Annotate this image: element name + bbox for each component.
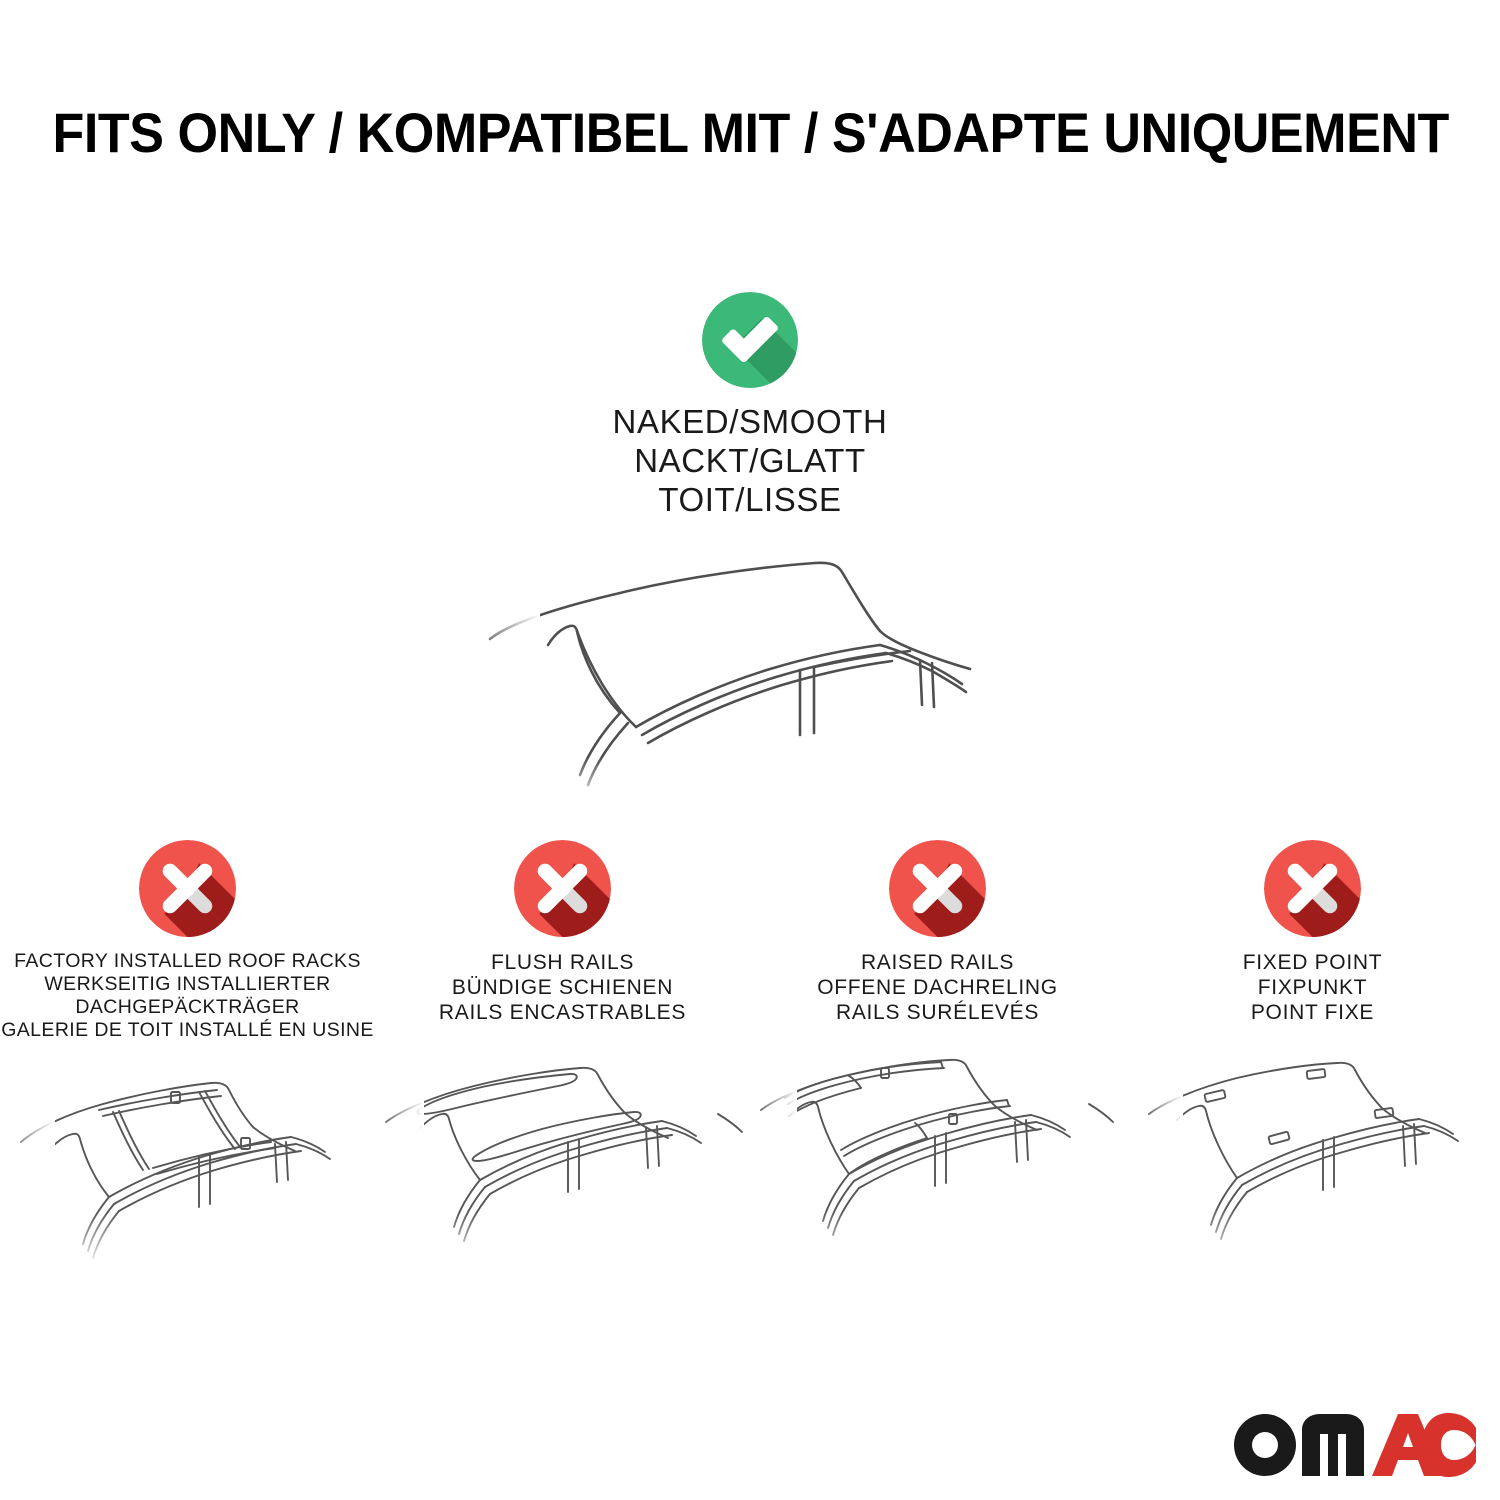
incompatible-line-2: WERKSEITIG INSTALLIERTER — [1, 973, 374, 996]
cross-icon — [889, 840, 986, 937]
incompatible-caption: FIXED POINT FIXPUNKT POINT FIXE — [1243, 950, 1383, 1050]
flush-rails-illustration — [378, 1052, 748, 1272]
incompatible-section: FACTORY INSTALLED ROOF RACKS WERKSEITIG … — [0, 840, 1500, 1272]
omac-logo: OMAC — [1232, 1408, 1476, 1482]
compatible-section: NAKED/SMOOTH NACKT/GLATT TOIT/LISSE — [0, 292, 1500, 812]
incompatible-item-flush-rails: FLUSH RAILS BÜNDIGE SCHIENEN RAILS ENCAS… — [375, 840, 750, 1272]
incompatible-line-2: BÜNDIGE SCHIENEN — [439, 975, 686, 1000]
page-title-text: FITS ONLY / KOMPATIBEL MIT / S'ADAPTE UN… — [53, 103, 1449, 163]
incompatible-line-3: RAILS SURÉLEVÉS — [817, 1000, 1058, 1025]
check-icon — [702, 292, 798, 388]
incompatible-caption: FACTORY INSTALLED ROOF RACKS WERKSEITIG … — [1, 950, 374, 1050]
fixed-point-illustration — [1143, 1052, 1483, 1272]
compatible-caption: NAKED/SMOOTH NACKT/GLATT TOIT/LISSE — [613, 402, 888, 519]
incompatible-line-2: FIXPUNKT — [1243, 975, 1383, 1000]
incompatible-line-1: FACTORY INSTALLED ROOF RACKS — [1, 950, 374, 973]
incompatible-line-1: FIXED POINT — [1243, 950, 1383, 975]
raised-rails-illustration — [753, 1052, 1123, 1272]
incompatible-item-fixed-point: FIXED POINT FIXPUNKT POINT FIXE — [1125, 840, 1500, 1272]
incompatible-line-3: DACHGEPÄCKTRÄGER — [1, 996, 374, 1019]
incompatible-item-factory-installed-roof-racks: FACTORY INSTALLED ROOF RACKS WERKSEITIG … — [0, 840, 375, 1272]
cross-icon — [139, 840, 236, 937]
incompatible-line-2: OFFENE DACHRELING — [817, 975, 1058, 1000]
compatible-line-3: TOIT/LISSE — [613, 480, 888, 519]
incompatible-caption: RAISED RAILS OFFENE DACHRELING RAILS SUR… — [817, 950, 1058, 1050]
compatible-line-2: NACKT/GLATT — [613, 441, 888, 480]
compatible-line-1: NAKED/SMOOTH — [613, 402, 888, 441]
incompatible-line-1: RAISED RAILS — [817, 950, 1058, 975]
incompatible-line-1: FLUSH RAILS — [439, 950, 686, 975]
cross-icon — [1264, 840, 1361, 937]
factory-roof-rack-illustration — [3, 1052, 373, 1272]
incompatible-line-3: POINT FIXE — [1243, 1000, 1383, 1025]
incompatible-line-3: RAILS ENCASTRABLES — [439, 1000, 686, 1025]
cross-icon — [514, 840, 611, 937]
naked-smooth-roof-illustration — [470, 527, 1030, 812]
incompatible-caption: FLUSH RAILS BÜNDIGE SCHIENEN RAILS ENCAS… — [439, 950, 686, 1050]
incompatible-item-raised-rails: RAISED RAILS OFFENE DACHRELING RAILS SUR… — [750, 840, 1125, 1272]
incompatible-line-4: GALERIE DE TOIT INSTALLÉ EN USINE — [1, 1019, 374, 1042]
page-title: FITS ONLY / KOMPATIBEL MIT / S'ADAPTE UN… — [0, 103, 1500, 163]
